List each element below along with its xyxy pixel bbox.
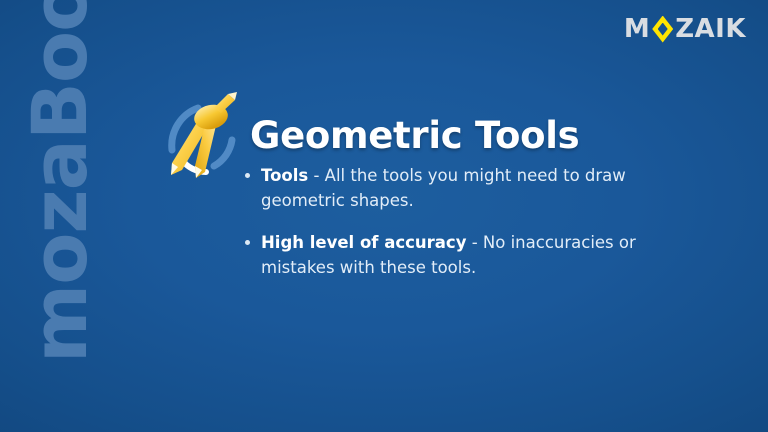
diamond-icon <box>652 16 673 43</box>
logo-text-suffix: ZAIK <box>675 16 746 42</box>
logo-text-prefix: M <box>624 16 650 42</box>
feature-bullet-list: Tools - All the tools you might need to … <box>240 163 660 297</box>
list-item: Tools - All the tools you might need to … <box>240 163 660 213</box>
brand-sidebar: mozaBook <box>0 0 140 432</box>
page-title: Geometric Tools <box>250 114 579 157</box>
mozaik-logo: M ZAIK <box>624 14 746 44</box>
bullet-lead-label: High level of accuracy <box>261 233 466 252</box>
bullet-dot-icon <box>245 173 250 178</box>
presentation-slide: mozaBook M ZAIK <box>0 0 768 432</box>
compass-divider-icon <box>158 88 246 180</box>
brand-vertical-label: mozaBook <box>17 0 103 363</box>
bullet-description: - All the tools you might need to draw g… <box>261 166 626 210</box>
bullet-lead-label: Tools <box>261 166 308 185</box>
bullet-dot-icon <box>245 240 250 245</box>
list-item: High level of accuracy - No inaccuracies… <box>240 230 660 280</box>
